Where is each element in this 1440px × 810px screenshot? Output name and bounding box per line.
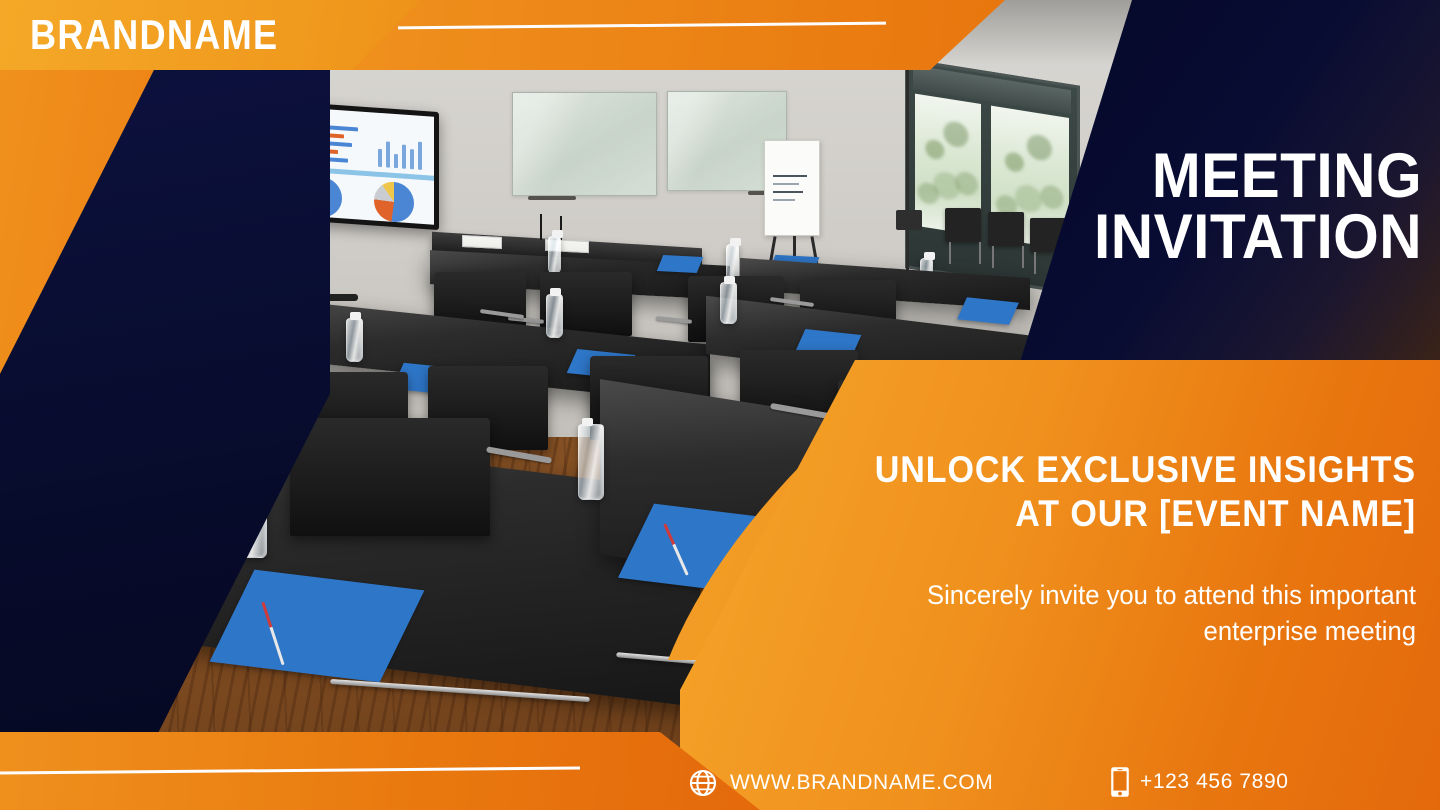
mic-stand — [906, 60, 909, 290]
side-chair — [945, 208, 981, 242]
subtitle-line-1: UNLOCK EXCLUSIVE INSIGHTS — [864, 448, 1416, 492]
microphone — [540, 214, 542, 240]
meeting-invitation-poster: BRANDNAME MEETING INVITATION UNLOCK EXCL… — [0, 0, 1440, 810]
whiteboard-tray — [528, 196, 576, 200]
water-bottle — [546, 294, 563, 338]
name-plate — [462, 235, 502, 249]
body-copy: Sincerely invite you to attend this impo… — [776, 578, 1416, 649]
flipchart — [764, 140, 820, 236]
subtitle-line-2: AT OUR [EVENT NAME] — [864, 492, 1416, 536]
bar-chart-group — [378, 133, 422, 170]
globe-icon — [688, 768, 718, 798]
website-contact[interactable]: WWW.BRANDNAME.COM — [688, 768, 993, 798]
whiteboard — [512, 92, 657, 196]
water-bottle — [548, 236, 561, 274]
phone-text: +123 456 7890 — [1140, 770, 1289, 794]
water-bottle — [578, 424, 604, 500]
subtitle: UNLOCK EXCLUSIVE INSIGHTS AT OUR [EVENT … — [816, 448, 1416, 535]
title-line-2: INVITATION — [1050, 207, 1422, 268]
left-diagonal-stripes — [0, 58, 330, 810]
phone-contact[interactable]: +123 456 7890 — [1110, 766, 1289, 798]
page-title: MEETING INVITATION — [1022, 146, 1422, 268]
pie-chart — [374, 180, 414, 223]
body-line-1: Sincerely invite you to attend this impo… — [808, 578, 1416, 614]
website-text: WWW.BRANDNAME.COM — [730, 771, 993, 795]
title-line-1: MEETING — [1050, 146, 1422, 207]
brand-name: BRANDNAME — [30, 12, 278, 58]
av-equipment — [896, 210, 922, 230]
blue-folder — [657, 255, 703, 273]
body-line-2: enterprise meeting — [808, 614, 1416, 650]
mobile-phone-icon — [1110, 766, 1130, 798]
water-bottle — [720, 282, 737, 324]
water-bottle — [346, 318, 363, 362]
side-chair — [988, 212, 1024, 246]
